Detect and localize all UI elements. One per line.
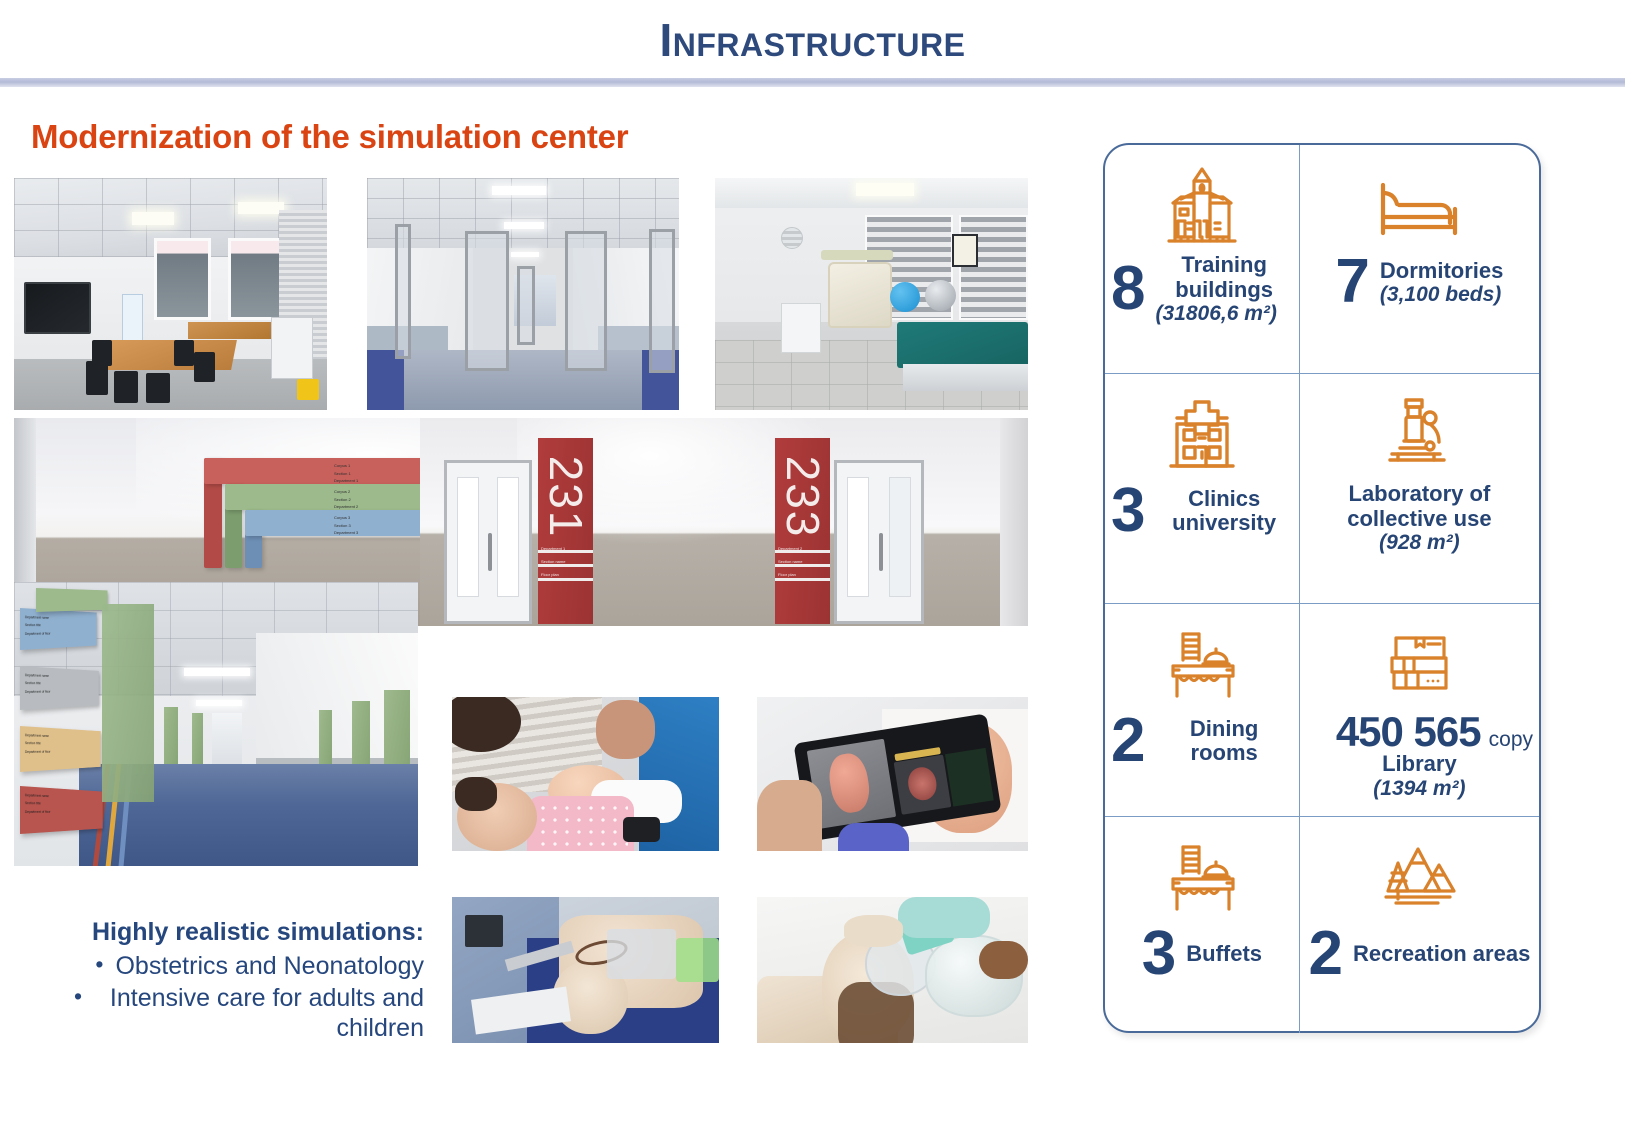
corridor-door <box>192 713 203 767</box>
storage-cabinet <box>781 303 821 353</box>
stat-card-dormitories: 7 Dormitories (3,100 beds) <box>1300 145 1539 374</box>
buffet-table-icon <box>1159 831 1245 919</box>
ceiling-lamp-icon <box>196 700 242 706</box>
microscope-icon <box>1376 388 1462 476</box>
simulation-classroom-photo <box>14 178 327 410</box>
bullet-dot-icon: • <box>74 983 82 1009</box>
infrastructure-stats-panel: 8 Training buildings (31806,6 m²) <box>1103 143 1541 1033</box>
band-blue-text: Corpus 3Section 3Department 3 <box>334 514 358 537</box>
chair <box>194 352 215 382</box>
stat-card-clinics: 3 Clinics university <box>1105 374 1300 604</box>
neonatal-tablet-simulation-photo <box>757 697 1028 851</box>
room-number-panel: 231 Department 1Section nameFloor plan <box>538 438 593 624</box>
tablet-screen-data <box>946 747 995 806</box>
waste-bin <box>297 379 319 400</box>
stat-card-buffets: 3 Buffets <box>1105 817 1300 1033</box>
intensive-care-simulation-photo <box>452 897 719 1043</box>
gloved-hand <box>838 823 908 851</box>
wall-right-return <box>1000 418 1028 626</box>
department-sign-text: Department nameSection titleDepartment o… <box>25 671 51 696</box>
page-title: Infrastructure <box>660 13 966 67</box>
chair <box>146 373 170 403</box>
sign-number-column <box>102 604 154 802</box>
gloved-hand-teal <box>898 897 990 938</box>
stat-number: 2 <box>1309 925 1343 984</box>
department-sign-text: Department nameSection titleDepartment o… <box>25 613 51 638</box>
books-icon <box>1376 618 1462 706</box>
department-sign-red: Department nameSection titleDepartment o… <box>20 786 103 834</box>
stat-number: 3 <box>1142 925 1176 984</box>
operator-hand <box>757 780 822 851</box>
bed-frame <box>903 364 1028 392</box>
room-panel-caption: Department 1Section nameFloor plan <box>541 542 565 582</box>
chair <box>174 340 194 366</box>
stat-sublabel: (3,100 beds) <box>1380 283 1503 306</box>
classroom-window <box>228 238 285 319</box>
stat-card-laboratory: Laboratory of collective use (928 m²) <box>1300 374 1539 604</box>
stat-label: Buffets <box>1186 942 1262 967</box>
stat-card-training-buildings: 8 Training buildings (31806,6 m²) <box>1105 145 1300 374</box>
header-divider <box>0 78 1625 87</box>
stat-card-recreation-areas: 2 Recreation areas <box>1300 817 1539 1033</box>
wall-poster <box>952 234 978 267</box>
room-number-233: 233 <box>770 462 836 532</box>
stat-unit: copy <box>1489 728 1533 752</box>
chest-drape <box>607 929 676 979</box>
slide-header: Infrastructure <box>0 0 1625 80</box>
hospital-corridor-photo <box>367 178 679 410</box>
delivery-bed <box>897 322 1028 368</box>
stat-card-dining-rooms: 2 Dining rooms <box>1105 604 1300 817</box>
ceiling-lamp-icon <box>132 212 174 225</box>
list-item: • Intensive care for adults and children <box>14 983 424 1043</box>
room-panel-caption: Department 2Section nameFloor plan <box>778 542 802 582</box>
instructor-head <box>596 700 655 759</box>
stat-label: Clinics university <box>1155 487 1292 536</box>
incubator-canopy <box>821 250 893 260</box>
corridor-glass-door <box>465 231 509 370</box>
department-sign-green <box>36 588 108 612</box>
bullets-title: Highly realistic simulations: <box>14 918 424 947</box>
exercise-ball-silver <box>925 280 956 311</box>
stat-card-library: 450 565 copy Library (1394 m²) <box>1300 604 1539 817</box>
ceiling-lamp-icon <box>504 222 544 229</box>
stat-number: 3 <box>1111 482 1145 541</box>
stat-label: Recreation areas <box>1353 942 1530 967</box>
training-building-icon <box>1159 159 1245 247</box>
corridor-floor <box>367 350 679 410</box>
wall-tv-screen <box>24 282 91 334</box>
department-sign-text: Department nameSection titleDepartment o… <box>25 791 51 816</box>
double-door <box>444 460 532 624</box>
classroom-window <box>154 238 211 319</box>
bullet-text: Obstetrics and Neonatology <box>115 951 424 981</box>
ceiling-lamp-icon <box>856 183 914 196</box>
department-signage-corridor-render: Department nameSection titleDepartment o… <box>14 582 418 866</box>
stat-label: Dining rooms <box>1155 717 1292 766</box>
gown-dots <box>537 802 628 848</box>
band-red-text: Corpus 1Section 1Department 1 <box>334 462 358 485</box>
bullet-dot-icon: • <box>95 951 103 977</box>
ceiling-lamp-icon <box>492 186 546 195</box>
corridor-door <box>319 710 332 770</box>
ceiling-lamp-icon <box>238 202 284 214</box>
band-green-text: Corpus 2Section 2Department 2 <box>334 488 358 511</box>
window-blind <box>959 215 1028 319</box>
classroom-table <box>101 340 237 370</box>
stat-label: Dormitories <box>1380 259 1503 284</box>
department-sign-blue: Department nameSection titleDepartment o… <box>20 608 97 650</box>
tubing <box>676 938 719 982</box>
department-sign-sand: Department nameSection titleDepartment o… <box>20 726 101 772</box>
stat-sublabel: (928 m²) <box>1306 531 1533 554</box>
stat-label: Library <box>1382 752 1457 777</box>
band-red <box>204 458 449 484</box>
corridor-glass-door <box>565 231 607 370</box>
supporting-hand <box>844 915 904 947</box>
stat-number: 450 565 <box>1336 712 1481 752</box>
stat-number: 2 <box>1111 712 1145 771</box>
obstetric-simulation-photo <box>452 697 719 851</box>
stat-label: Training buildings <box>1155 253 1292 302</box>
room-number-panel: 233 Department 2Section nameFloor plan <box>775 438 830 624</box>
department-sign-text: Department nameSection titleDepartment o… <box>25 731 51 756</box>
corridor-door <box>649 229 675 373</box>
department-sign-gray: Department nameSection titleDepartment o… <box>20 666 99 710</box>
ceiling-lamp-icon <box>511 252 539 257</box>
chair <box>114 371 138 403</box>
double-door <box>834 460 924 624</box>
list-item: • Obstetrics and Neonatology <box>14 951 424 981</box>
stat-sublabel: (1394 m²) <box>1373 777 1465 800</box>
slide-root: Infrastructure Modernization of the simu… <box>0 0 1625 1125</box>
mannequin-hair <box>455 777 498 811</box>
chair <box>92 340 112 366</box>
neonatal-room-photo <box>715 178 1028 410</box>
room-door-render: 231 Department 1Section nameFloor plan 2… <box>420 418 1028 626</box>
classroom-poster <box>122 294 143 342</box>
bullet-text: Intensive care for adults and children <box>94 983 424 1043</box>
tablet-screen-detail <box>894 754 952 814</box>
corridor-door <box>164 707 178 772</box>
stat-number: 7 <box>1335 253 1369 312</box>
wall-mirror <box>781 227 803 249</box>
bag-valve-mask-training-photo <box>757 897 1028 1043</box>
infant-incubator <box>828 262 892 328</box>
clinic-icon <box>1159 388 1245 476</box>
bed-icon <box>1373 159 1465 247</box>
stat-label: Laboratory of collective use <box>1306 482 1533 531</box>
ceiling-lamp-icon <box>184 668 250 676</box>
id-badge <box>465 915 502 947</box>
buffet-table-icon <box>1159 618 1245 706</box>
side-desk <box>188 322 280 339</box>
room-number-231: 231 <box>533 462 599 532</box>
stat-number: 8 <box>1111 260 1145 319</box>
section-subtitle: Modernization of the simulation center <box>31 118 628 156</box>
chair <box>86 361 108 395</box>
mountains-icon <box>1376 831 1462 919</box>
wrist-watch <box>623 817 660 842</box>
stat-sublabel: (31806,6 m²) <box>1155 302 1292 325</box>
corridor-door <box>395 224 411 359</box>
simulations-bullet-block: Highly realistic simulations: • Obstetri… <box>14 918 424 1043</box>
corridor-door <box>517 266 535 345</box>
trainer-hand <box>979 941 1028 979</box>
medical-cart <box>271 317 313 379</box>
